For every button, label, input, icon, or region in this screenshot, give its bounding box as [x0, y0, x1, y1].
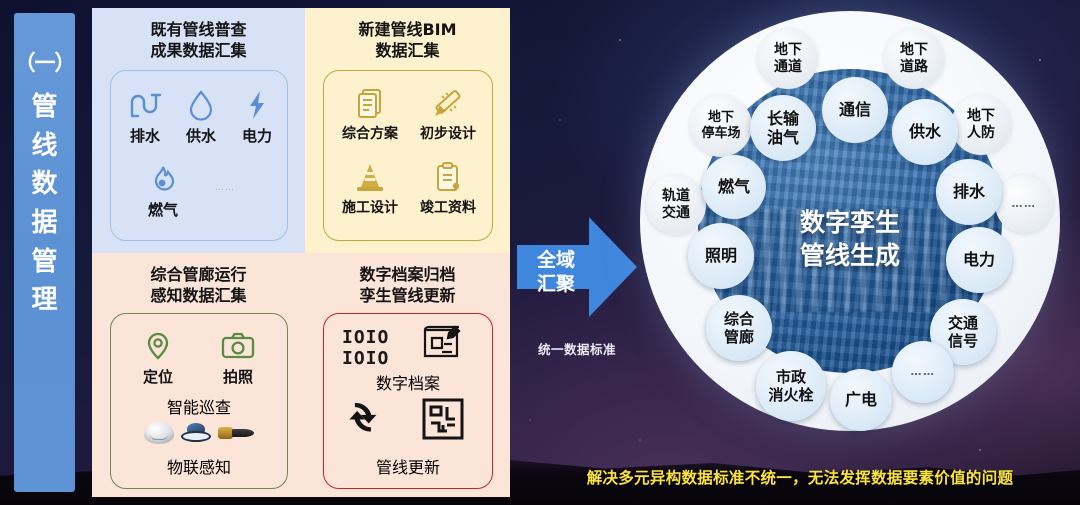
bubble-label: ……	[911, 365, 936, 378]
maze-icon	[422, 398, 464, 444]
bubble-label: 供水	[909, 122, 941, 141]
arrow-sublabel: 统一数据标准	[517, 339, 637, 358]
flame-icon	[135, 161, 191, 197]
item-dingwei[interactable]: 定位	[127, 328, 189, 387]
inner-bubble-utility-corridor[interactable]: 综合 管廊	[706, 295, 772, 361]
panel-digital-archive-box: IOIOIOIO 数字档案	[323, 313, 493, 489]
outer-bubble-underground-road[interactable]: 地下 道路	[884, 29, 944, 89]
section-title-bar: （一） 管 线 数 据 管 理	[14, 13, 75, 492]
digital-twin-circle: 地下 通道 地下 道路 地下 停车场 地下 人防 轨道 交通 …… 长输 油气 …	[640, 11, 1060, 431]
panel-title: 新建管线BIM数据汇集	[305, 20, 510, 62]
water-drop-icon	[173, 87, 229, 123]
item-label: 数字档案	[324, 370, 492, 394]
item-label: 施工设计	[332, 197, 408, 217]
panel-new-bim: 新建管线BIM数据汇集 综合方案	[305, 8, 510, 253]
item-paishui[interactable]: 排水	[117, 87, 173, 146]
ellipsis-placeholder: ……	[215, 183, 235, 193]
panel-title: 既有管线普查成果数据汇集	[92, 20, 305, 62]
bubble-label: 地下 通道	[774, 42, 802, 76]
section-title-char: 线	[31, 128, 57, 166]
section-title-char: 理	[31, 282, 57, 320]
blueprint-pencil-icon	[420, 324, 464, 368]
arrow-label: 全域汇聚	[537, 249, 575, 297]
bubble-label: 地下 停车场	[701, 110, 740, 141]
panel-title: 综合管廊运行感知数据汇集	[92, 265, 305, 307]
bubble-label: 通信	[839, 100, 871, 119]
section-title-char: 管	[31, 244, 57, 282]
document-icon	[332, 85, 408, 121]
group-label-inspection: 智能巡查	[111, 394, 287, 418]
iot-device-photos	[111, 422, 287, 444]
panel-title: 数字档案归档孪生管线更新	[305, 265, 510, 307]
inner-bubble-ellipsis[interactable]: ……	[892, 341, 954, 403]
bubble-label: 综合 管廊	[724, 310, 754, 346]
bubble-label: 地下 人防	[967, 108, 995, 142]
inner-bubble-communication[interactable]: 通信	[822, 77, 888, 143]
section-number: （一）	[15, 47, 75, 77]
bubble-label: 燃气	[718, 177, 750, 196]
item-label: 电力	[229, 125, 285, 146]
item-label: 综合方案	[332, 123, 408, 143]
sensor-photo	[179, 423, 213, 443]
bottom-caption: 解决多元异构数据标准不统一，无法发挥数据要素价值的问题	[520, 466, 1080, 488]
section-title-char: 数	[31, 166, 57, 204]
data-source-panels: 既有管线普查成果数据汇集 排水	[92, 8, 510, 497]
panel-existing-survey: 既有管线普查成果数据汇集 排水	[92, 8, 305, 253]
item-zonghefangan[interactable]: 综合方案	[332, 85, 408, 143]
location-pin-icon	[127, 328, 189, 364]
item-paizhao[interactable]: 拍照	[207, 328, 269, 387]
inner-bubble-oil-gas-pipeline[interactable]: 长输 油气	[750, 95, 816, 161]
ruler-pencil-icon	[410, 85, 486, 121]
bubble-label: 广电	[845, 390, 877, 409]
traffic-cone-icon	[332, 159, 408, 195]
item-dianli[interactable]: 电力	[229, 87, 285, 146]
clipboard-icon	[410, 159, 486, 195]
circle-center-title: 数字孪生管线生成	[640, 207, 1060, 272]
item-shigongsheji[interactable]: 施工设计	[332, 159, 408, 217]
arrow-shape	[517, 217, 637, 335]
item-jungongziliao[interactable]: 竣工资料	[410, 159, 486, 217]
binary-icon: IOIOIOIO	[342, 328, 389, 369]
lightning-icon	[229, 87, 285, 123]
item-label: 拍照	[207, 366, 269, 387]
outer-bubble-civil-defense[interactable]: 地下 人防	[951, 95, 1011, 155]
item-label: 供水	[173, 125, 229, 146]
item-gongshui[interactable]: 供水	[173, 87, 229, 146]
refresh-icon	[344, 400, 388, 444]
section-title-char: 据	[31, 205, 57, 243]
panel-content-box: 综合方案 初步设计	[323, 70, 493, 241]
item-label: 管线更新	[324, 454, 492, 478]
bubble-label: 市政 消火栓	[768, 368, 813, 404]
bubble-label: 长输 油气	[767, 109, 799, 147]
outer-bubble-underground-passage[interactable]: 地下 通道	[758, 29, 818, 89]
bubble-label: 地下 道路	[900, 42, 928, 76]
inner-bubble-water-supply[interactable]: 供水	[892, 99, 958, 165]
item-label: 定位	[127, 366, 189, 387]
pipe-icon	[117, 87, 173, 123]
group-label-iot: 物联感知	[111, 454, 287, 478]
outer-bubble-underground-parking[interactable]: 地下 停车场	[690, 95, 752, 157]
inner-bubble-municipal-hydrant[interactable]: 市政 消火栓	[756, 351, 826, 421]
inner-bubble-broadcasting[interactable]: 广电	[830, 369, 892, 431]
camera-icon	[207, 328, 269, 364]
item-label: 排水	[117, 125, 173, 146]
panel-corridor-sensing-box: 定位 拍照 智能巡查 物联感知	[110, 313, 288, 489]
smoke-detector-photo	[144, 422, 174, 444]
section-title-char: 管	[31, 89, 57, 127]
aggregation-arrow: 全域汇聚 统一数据标准	[517, 217, 637, 367]
item-label: 初步设计	[410, 123, 486, 143]
bubble-label: 交通 信号	[948, 314, 978, 350]
bubble-label: 排水	[953, 182, 985, 201]
item-ranqi[interactable]: 燃气	[135, 161, 191, 220]
probe-valve-photo	[218, 425, 254, 441]
item-label: 燃气	[135, 199, 191, 220]
item-label: 竣工资料	[410, 197, 486, 217]
panel-content-box: 排水 供水 电力	[110, 70, 288, 241]
item-chubusheji[interactable]: 初步设计	[410, 85, 486, 143]
